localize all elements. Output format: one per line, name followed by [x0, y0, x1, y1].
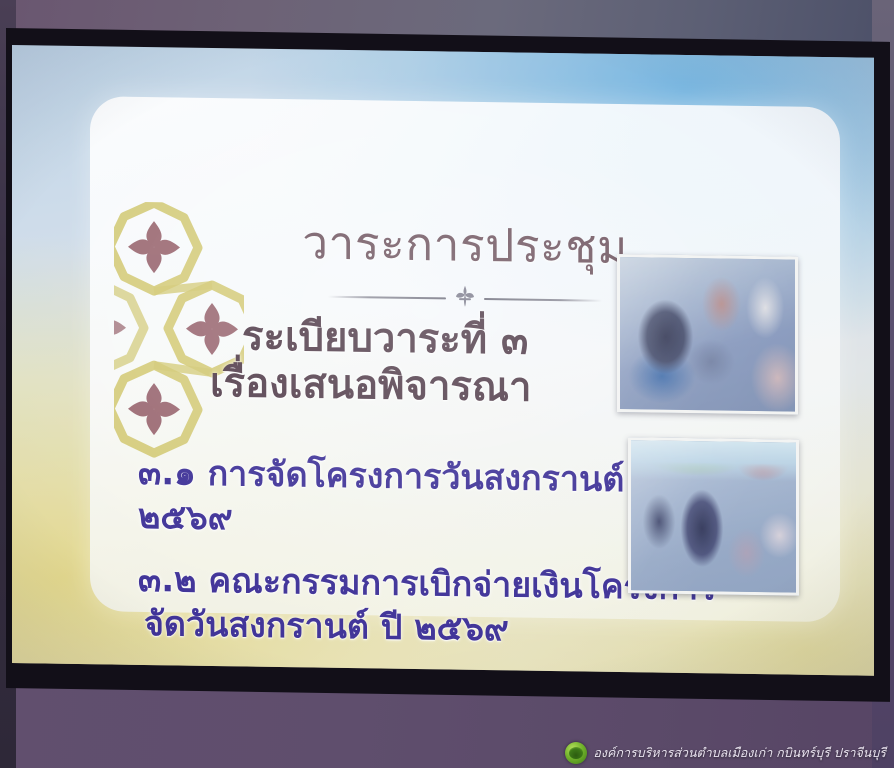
- fleur-de-lis-icon: [452, 284, 478, 314]
- organization-seal-icon: [565, 742, 587, 764]
- divider-rule-left: [328, 296, 446, 300]
- photo-content: [620, 257, 795, 412]
- agenda-item-label: ๓.๑ การจัดโครงการวันสงกรานต์ ปี ๒๕๖๙: [138, 453, 658, 538]
- songkran-outdoor-gathering-photo: [628, 437, 799, 596]
- songkran-water-pouring-photo: [617, 254, 798, 415]
- divider-rule-right: [484, 298, 602, 302]
- photo-content: [631, 440, 796, 592]
- room-scene: วาระการประชุม: [0, 0, 894, 768]
- projected-slide: วาระการประชุม: [12, 45, 874, 676]
- agenda-item-continuation: จัดวันสงกรานต์ ปี ๒๕๖๙: [138, 602, 758, 655]
- watermark: องค์การบริหารส่วนตำบลเมืองเก่า กบินทร์บุ…: [565, 742, 886, 764]
- watermark-text: องค์การบริหารส่วนตำบลเมืองเก่า กบินทร์บุ…: [593, 743, 886, 763]
